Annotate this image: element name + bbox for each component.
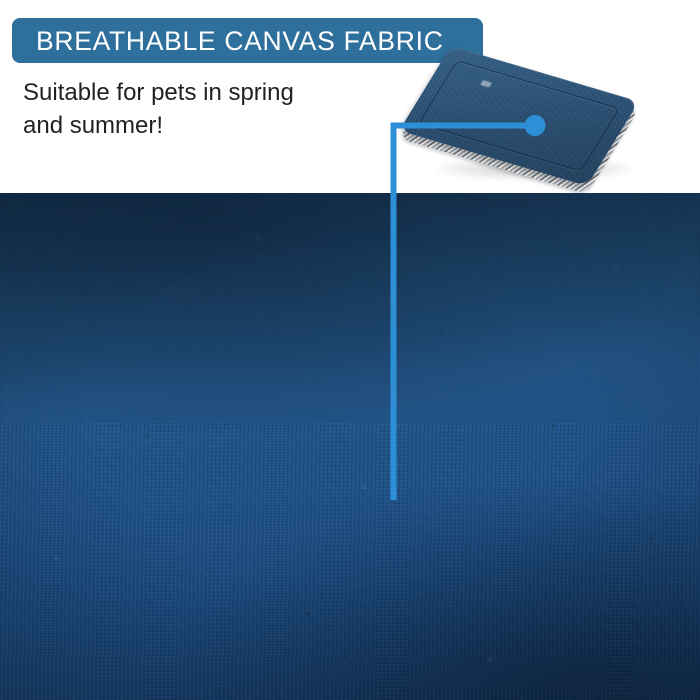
- fabric-slub-speckle: [0, 193, 700, 700]
- mat-border-seam: [418, 60, 620, 172]
- product-photo: [415, 62, 665, 193]
- top-info-panel: BREATHABLE CANVAS FABRIC Suitable for pe…: [0, 0, 700, 193]
- product-feature-poster: BREATHABLE CANVAS FABRIC Suitable for pe…: [0, 0, 700, 700]
- headline-banner: BREATHABLE CANVAS FABRIC: [12, 18, 483, 63]
- subheadline-line-1: Suitable for pets in spring: [23, 76, 373, 109]
- pet-mat-illustration: [415, 62, 665, 193]
- subheadline-block: Suitable for pets in spring and summer!: [23, 76, 373, 142]
- fabric-macro-background: [0, 193, 700, 700]
- subheadline-line-2: and summer!: [23, 109, 373, 142]
- headline-text: BREATHABLE CANVAS FABRIC: [36, 27, 444, 54]
